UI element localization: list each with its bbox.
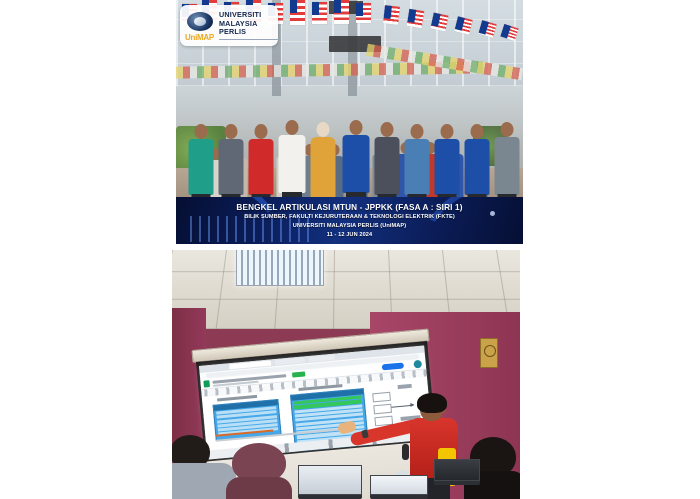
ceiling-light-panel xyxy=(236,250,324,286)
laptop[interactable] xyxy=(370,475,428,499)
audience-member xyxy=(226,443,292,499)
laptop[interactable] xyxy=(434,459,480,485)
wall-plaque xyxy=(480,338,498,368)
flow-node xyxy=(372,392,391,403)
caption-title: BENGKEL ARTIKULASI MTUN - JPPKK (FASA A … xyxy=(176,202,523,213)
sheets-icon xyxy=(203,380,210,388)
unimap-logo-icon: UniMAP xyxy=(185,10,215,42)
caption-venue: BILIK SUMBER, FAKULTI KEJURUTERAAN & TEK… xyxy=(176,213,523,222)
presentation-photo xyxy=(172,250,520,499)
flow-label xyxy=(398,384,412,389)
caption-institution: UNIVERSITI MALAYSIA PERLIS (UniMAP) xyxy=(176,222,523,231)
group-photo: UniMAP UNIVERSITI MALAYSIA PERLIS BENGKE… xyxy=(176,0,523,244)
logo-line-perlis: PERLIS xyxy=(219,28,279,37)
caption-dates: 11 - 12 JUN 2024 xyxy=(176,231,523,240)
document-page: UniMAP UNIVERSITI MALAYSIA PERLIS BENGKE… xyxy=(0,0,700,499)
logo-mark-text: UniMAP xyxy=(185,33,214,42)
unimap-logo-badge: UniMAP UNIVERSITI MALAYSIA PERLIS xyxy=(180,5,278,46)
microphone xyxy=(402,444,409,460)
laptop[interactable] xyxy=(298,465,362,499)
flow-node xyxy=(373,404,392,415)
photo-caption-banner: BENGKEL ARTIKULASI MTUN - JPPKK (FASA A … xyxy=(176,197,523,244)
presenter-hair xyxy=(417,393,447,413)
logo-divider xyxy=(219,39,279,40)
